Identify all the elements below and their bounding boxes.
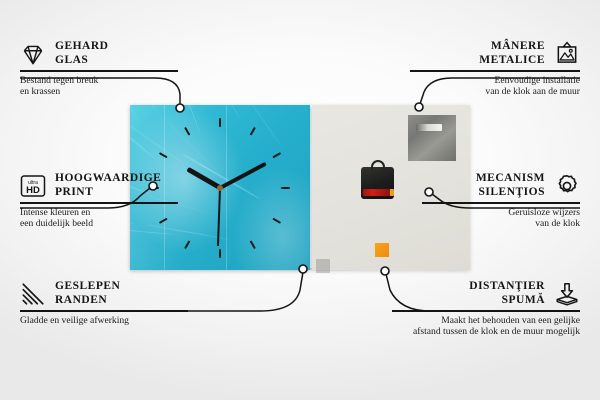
feature-title: MECANISM SILENŢIOS [476, 172, 545, 199]
divider [410, 70, 580, 72]
feature-title: GESLEPEN RANDEN [55, 280, 120, 307]
metal-hanger-plate [408, 115, 456, 161]
feature-heading: GESLEPEN RANDEN [20, 280, 190, 307]
feature-subtitle: Gladde en veilige afwerking [20, 315, 190, 327]
feature-subtitle: Eenvoudige installatie [408, 75, 580, 87]
feature-title: HOOGWAARDIGE PRINT [55, 172, 161, 199]
feature-subtitle: en krassen [20, 86, 180, 98]
feature-gehard-glas[interactable]: GEHARD GLAS Bestand tegen breuk en krass… [20, 40, 180, 98]
quartz-movement [361, 167, 394, 199]
feature-title: GEHARD GLAS [55, 40, 108, 67]
beveled-edge-icon [20, 281, 46, 307]
feature-subtitle: Maakt het behouden van een gelijke [390, 315, 580, 327]
feature-subtitle: van de klok aan de muur [408, 86, 580, 98]
aa-battery [363, 189, 390, 196]
feature-subtitle: Bestand tegen breuk [20, 75, 180, 87]
feature-heading: ultra HD HOOGWAARDIGE PRINT [20, 172, 180, 199]
feature-subtitle: Geruisloze wijzers [420, 207, 580, 219]
diamond-icon [20, 41, 46, 67]
divider [422, 202, 580, 204]
feature-title: MÂNERE METALICE [479, 40, 545, 67]
divider [20, 310, 188, 312]
divider [392, 310, 580, 312]
feature-distantier-spuma[interactable]: DISTANŢIER SPUMĂ Maakt het behouden van … [390, 280, 580, 338]
feature-geslepen-randen[interactable]: GESLEPEN RANDEN Gladde en veilige afwerk… [20, 280, 190, 326]
infographic-canvas: GEHARD GLAS Bestand tegen breuk en krass… [0, 0, 600, 400]
hanger-slot [416, 124, 442, 131]
feature-subtitle: Intense kleuren en [20, 207, 180, 219]
divider [20, 202, 178, 204]
ultra-hd-icon: ultra HD [20, 173, 46, 199]
feature-manere-metalice[interactable]: MÂNERE METALICE Eenvoudige installatie v… [408, 40, 580, 98]
svg-text:HD: HD [26, 185, 40, 196]
clock-center-cap [217, 185, 223, 191]
feature-hoogwaardige-print[interactable]: ultra HD HOOGWAARDIGE PRINT Intense kleu… [20, 172, 180, 230]
foam-spacer-icon [554, 281, 580, 307]
feature-subtitle: afstand tussen de klok en de muur mogeli… [390, 326, 580, 338]
battery-terminal [390, 189, 394, 196]
gear-icon [554, 173, 580, 199]
feature-subtitle: van de klok [420, 218, 580, 230]
foam-spacer-shadow [316, 259, 330, 273]
feature-heading: GEHARD GLAS [20, 40, 180, 67]
feature-heading: MECANISM SILENŢIOS [420, 172, 580, 199]
wall-mount-frame-icon [554, 41, 580, 67]
divider [20, 70, 178, 72]
panel-seam [226, 105, 227, 270]
foam-spacer [375, 243, 389, 257]
feature-heading: MÂNERE METALICE [408, 40, 580, 67]
feature-heading: DISTANŢIER SPUMĂ [390, 280, 580, 307]
movement-hook [371, 160, 385, 170]
feature-mecanism-silentios[interactable]: MECANISM SILENŢIOS Geruisloze wijzers va… [420, 172, 580, 230]
feature-title: DISTANŢIER SPUMĂ [469, 280, 545, 307]
feature-subtitle: een duidelijk beeld [20, 218, 180, 230]
product-photo [130, 105, 470, 270]
